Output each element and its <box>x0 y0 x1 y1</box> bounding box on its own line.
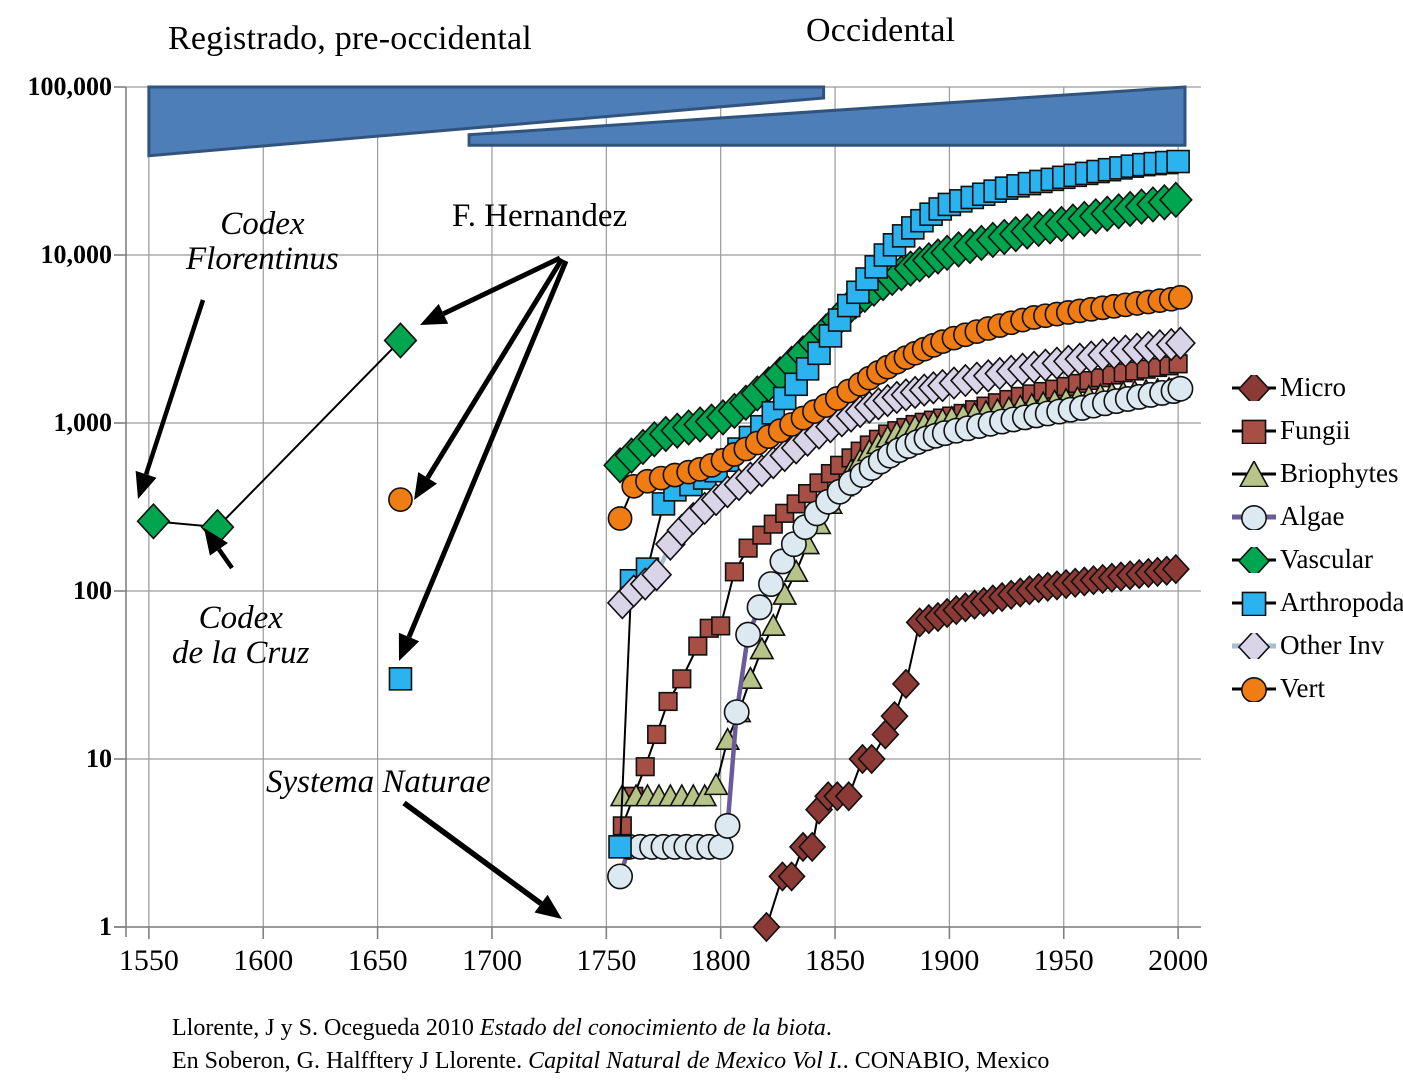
y-tick-label: 1,000 <box>54 408 113 438</box>
legend-label: Arthropoda <box>1276 587 1403 618</box>
legend-item-vert[interactable]: Vert <box>1232 667 1402 710</box>
plot-area <box>0 0 1403 1088</box>
arrow-systema-shaft <box>404 803 541 904</box>
caption-2-a: En Soberon, G. Halfftery J Llorente. <box>172 1048 528 1074</box>
series-line-micro <box>766 569 1175 927</box>
data-point-micro <box>753 913 779 941</box>
data-point-micro <box>893 670 919 698</box>
series-algae <box>608 377 1193 889</box>
legend-marker-svg <box>1232 590 1276 616</box>
data-point-fungii <box>648 726 666 744</box>
legend-label: Vert <box>1276 673 1325 704</box>
data-point-vert <box>608 507 631 530</box>
annotation-line-1: Florentinus <box>186 242 339 277</box>
x-tick-label: 1900 <box>919 944 979 978</box>
legend-marker-diamond-icon <box>1232 549 1276 571</box>
data-point-algae <box>715 814 739 838</box>
data-point-fungii <box>689 637 707 655</box>
legend-marker-svg <box>1232 418 1276 444</box>
legend-label: Fungii <box>1276 415 1351 446</box>
annotation-f-hernandez: F. Hernandez <box>452 199 627 234</box>
data-point-vert <box>389 488 412 511</box>
legend-marker-diamond-icon <box>1232 635 1276 657</box>
legend-marker-shape <box>1242 592 1265 615</box>
arrow-systema-head <box>535 895 562 919</box>
x-tick-label: 2000 <box>1148 944 1208 978</box>
legend-item-other-inv[interactable]: Other Inv <box>1232 624 1402 667</box>
legend-marker-shape <box>1239 547 1269 573</box>
data-point-algae <box>736 622 760 646</box>
legend-marker-shape <box>1240 461 1268 486</box>
annotation-line-1: de la Cruz <box>172 636 310 671</box>
legend-marker-svg <box>1232 504 1276 530</box>
annotation-systema-naturae: Systema Naturae <box>266 765 491 800</box>
data-point-fungii <box>712 617 730 635</box>
legend-item-arthropoda[interactable]: Arthropoda <box>1232 581 1402 624</box>
legend-marker-diamond-icon <box>1232 377 1276 399</box>
annotation-line-0: Codex <box>186 207 339 242</box>
data-point-algae <box>608 864 632 888</box>
data-point-vascular <box>138 504 170 538</box>
data-point-fungii <box>673 670 691 688</box>
era-banners <box>149 87 1185 156</box>
y-tick-label: 10,000 <box>41 240 113 270</box>
legend-marker-shape <box>1242 420 1265 443</box>
legend-marker-svg <box>1232 633 1276 659</box>
legend-marker-shape <box>1242 677 1266 701</box>
legend-marker-svg <box>1232 461 1276 487</box>
y-tick-label: 10 <box>86 744 112 774</box>
legend-label: Other Inv <box>1276 630 1384 661</box>
data-point-algae <box>759 572 783 596</box>
legend-label: Micro <box>1276 372 1346 403</box>
legend-item-micro[interactable]: Micro <box>1232 366 1402 409</box>
arrow-florentinus-shaft <box>146 300 203 474</box>
legend-marker-circle-icon <box>1232 506 1276 528</box>
annotation-arrows <box>136 258 566 919</box>
caption-2-b: . CONABIO, Mexico <box>843 1048 1050 1074</box>
series-line-vascular <box>153 340 400 527</box>
legend-marker-square-icon <box>1232 420 1276 442</box>
caption-1-a: Llorente, J y S. Ocegueda 2010 <box>172 1015 480 1041</box>
legend-item-vascular[interactable]: Vascular <box>1232 538 1402 581</box>
data-point-algae <box>1168 377 1192 401</box>
data-point-vert <box>1169 286 1192 309</box>
x-tick-label: 1950 <box>1034 944 1094 978</box>
arrow-hernandez-vert-head <box>414 472 437 500</box>
x-tick-label: 1550 <box>119 944 179 978</box>
data-point-algae <box>725 700 749 724</box>
x-tick-label: 1750 <box>576 944 636 978</box>
data-point-arthropoda <box>609 836 631 858</box>
legend-item-fungii[interactable]: Fungii <box>1232 409 1402 452</box>
data-point-algae <box>747 595 771 619</box>
arrow-florentinus-head <box>136 471 157 499</box>
source-caption: Llorente, J y S. Ocegueda 2010 Estado de… <box>172 1012 1049 1078</box>
data-point-fungii <box>614 817 632 835</box>
legend-marker-svg <box>1232 676 1276 702</box>
chart-canvas: Registrado, pre-occidental Occidental 11… <box>0 0 1403 1088</box>
data-point-fungii <box>636 758 654 776</box>
x-tick-label: 1700 <box>462 944 522 978</box>
data-point-arthropoda <box>389 668 411 690</box>
chart-legend: MicroFungiiBriophytesAlgaeVascularArthro… <box>1232 366 1402 710</box>
annotation-codex-florentinus: CodexFlorentinus <box>186 207 339 277</box>
caption-2-title: Capital Natural de Mexico Vol I. <box>528 1048 843 1074</box>
series-micro <box>753 555 1188 941</box>
caption-1-title: Estado del conocimiento de la biota <box>480 1015 826 1041</box>
legend-marker-square-icon <box>1232 592 1276 614</box>
annotation-line-0: Codex <box>172 601 310 636</box>
legend-label: Briophytes <box>1276 458 1399 489</box>
caption-1-b: . <box>826 1015 832 1041</box>
data-point-briophytes <box>705 774 727 795</box>
legend-marker-circle-icon <box>1232 678 1276 700</box>
y-tick-label: 1 <box>99 912 112 942</box>
x-tick-label: 1650 <box>348 944 408 978</box>
caption-line-2: En Soberon, G. Halfftery J Llorente. Cap… <box>172 1045 1049 1078</box>
annotation-codex-de-la-cruz: Codexde la Cruz <box>172 601 310 671</box>
legend-label: Vascular <box>1276 544 1373 575</box>
data-point-fungii <box>726 563 744 581</box>
x-tick-label: 1800 <box>691 944 751 978</box>
legend-marker-svg <box>1232 375 1276 401</box>
data-point-arthropoda <box>1167 151 1189 173</box>
caption-line-1: Llorente, J y S. Ocegueda 2010 Estado de… <box>172 1012 1049 1045</box>
legend-marker-shape <box>1242 505 1266 529</box>
legend-marker-shape <box>1239 375 1269 401</box>
legend-marker-svg <box>1232 547 1276 573</box>
data-point-fungii <box>659 693 677 711</box>
arrow-hernandez-vascular-shaft <box>443 258 560 314</box>
legend-label: Algae <box>1276 501 1344 532</box>
y-tick-label: 100,000 <box>28 72 113 102</box>
legend-item-algae[interactable]: Algae <box>1232 495 1402 538</box>
x-tick-label: 1850 <box>805 944 865 978</box>
x-tick-label: 1600 <box>233 944 293 978</box>
legend-item-briophytes[interactable]: Briophytes <box>1232 452 1402 495</box>
y-tick-label: 100 <box>73 576 112 606</box>
legend-marker-shape <box>1239 633 1269 659</box>
legend-marker-triangle-icon <box>1232 463 1276 485</box>
arrow-cruz-shaft <box>219 549 232 568</box>
